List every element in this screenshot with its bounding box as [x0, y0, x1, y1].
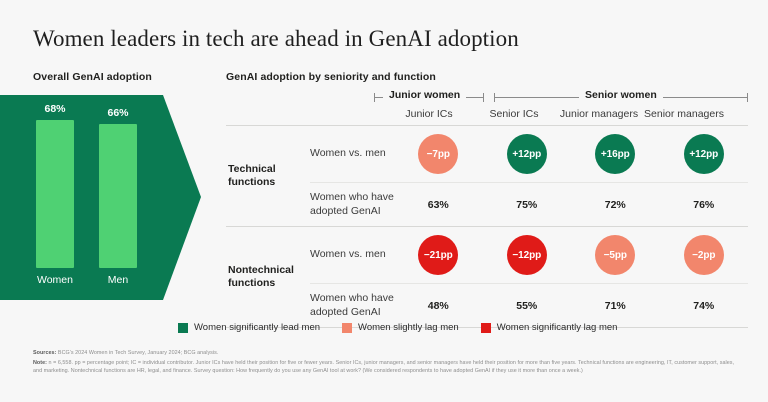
row-label-adopted-technical: Women who have adopted GenAI	[310, 191, 394, 218]
group-label-technical-line1: Technical	[228, 163, 276, 175]
cell-technical-adoption-junior-ics: 63%	[394, 199, 483, 211]
cell-technical-diff-junior-managers: +16pp	[571, 134, 660, 174]
adoption-value: 55%	[516, 300, 537, 312]
bar-women-label: Women	[24, 274, 86, 286]
legend-label-slightly-lag: Women slightly lag men	[358, 322, 459, 333]
legend: Women significantly lead men Women sligh…	[178, 322, 617, 333]
column-header-senior-ics: Senior ICs	[489, 108, 538, 120]
adoption-value: 75%	[516, 199, 537, 211]
column-header-junior-managers: Junior managers	[560, 108, 638, 120]
bar-women: 68% Women	[36, 120, 74, 268]
cell-technical-diff-senior-managers: +12pp	[660, 134, 749, 174]
footnote-sources-label: Sources:	[33, 350, 56, 356]
adoption-table: Junior women Senior women Junior ICs Sen…	[226, 88, 748, 328]
bracket-label-senior-women: Senior women	[579, 89, 663, 101]
bracket-senior-tick-right	[747, 93, 748, 102]
row-cells-nontechnical-diff: −21pp −12pp −5pp −2pp	[394, 235, 748, 275]
cell-nontechnical-diff-junior-managers: −5pp	[571, 235, 660, 275]
cell-nontechnical-diff-senior-ics: −12pp	[483, 235, 572, 275]
group-label-nontechnical-text: Nontechnical functions	[228, 264, 294, 290]
footnotes: Sources: BCG’s 2024 Women in Tech Survey…	[33, 349, 743, 377]
table-group-technical: Technical functions Women vs. men −7pp +…	[226, 126, 748, 226]
table-heading: GenAI adoption by seniority and function	[226, 71, 436, 83]
row-label-adopted-technical-line2: adopted GenAI	[310, 205, 381, 217]
row-label-adopted-nontechnical-line2: adopted GenAI	[310, 306, 381, 318]
cell-nontechnical-diff-senior-managers: −2pp	[660, 235, 749, 275]
column-header-senior-managers: Senior managers	[644, 108, 724, 120]
bracket-junior-tick-right	[483, 93, 484, 102]
cell-technical-adoption-junior-managers: 72%	[571, 199, 660, 211]
table-row-technical-adoption: Women who have adopted GenAI 63% 75% 72%	[310, 183, 748, 226]
row-cells-technical-adoption: 63% 75% 72% 76%	[394, 199, 748, 211]
legend-item-slightly-lag: Women slightly lag men	[342, 322, 459, 333]
cell-technical-diff-junior-ics: −7pp	[394, 134, 483, 174]
row-cells-nontechnical-adoption: 48% 55% 71% 74%	[394, 300, 748, 312]
group-label-nontechnical-line2: functions	[228, 277, 275, 289]
table-group-nontechnical: Nontechnical functions Women vs. men −21…	[226, 227, 748, 327]
row-label-women-vs-men-nontechnical: Women vs. men	[310, 248, 394, 262]
group-label-nontechnical-line1: Nontechnical	[228, 264, 294, 276]
row-label-adopted-nontechnical: Women who have adopted GenAI	[310, 292, 394, 319]
cell-nontechnical-adoption-senior-managers: 74%	[660, 300, 749, 312]
legend-swatch-icon	[178, 323, 188, 333]
footnote-sources: Sources: BCG’s 2024 Women in Tech Survey…	[33, 349, 743, 358]
cell-nontechnical-adoption-junior-ics: 48%	[394, 300, 483, 312]
table-row-technical-diff: Women vs. men −7pp +12pp +16pp +12pp	[310, 126, 748, 182]
table-column-headers: Junior ICs Senior ICs Junior managers Se…	[226, 108, 748, 125]
row-cells-technical-diff: −7pp +12pp +16pp +12pp	[394, 134, 748, 174]
group-nontechnical-rows: Women vs. men −21pp −12pp −5pp −2pp	[310, 227, 748, 327]
bar-men: 66% Men	[99, 124, 137, 268]
table-row-nontechnical-adoption: Women who have adopted GenAI 48% 55% 71%	[310, 284, 748, 327]
footnote-note-text: n = 6,558. pp = percentage point; IC = i…	[33, 360, 734, 375]
left-panel-heading: Overall GenAI adoption	[33, 71, 152, 83]
adoption-value: 74%	[693, 300, 714, 312]
adoption-value: 76%	[693, 199, 714, 211]
cell-nontechnical-diff-junior-ics: −21pp	[394, 235, 483, 275]
adoption-value: 72%	[605, 199, 626, 211]
row-label-women-vs-men-technical: Women vs. men	[310, 147, 394, 161]
bar-women-value: 68%	[36, 103, 74, 115]
group-label-technical-text: Technical functions	[228, 163, 276, 189]
table-row-nontechnical-diff: Women vs. men −21pp −12pp −5pp −2pp	[310, 227, 748, 283]
status-badge: −5pp	[595, 235, 635, 275]
status-badge: +12pp	[684, 134, 724, 174]
adoption-value: 48%	[428, 300, 449, 312]
status-badge: +12pp	[507, 134, 547, 174]
row-label-adopted-technical-line1: Women who have	[310, 191, 394, 203]
adoption-value: 63%	[428, 199, 449, 211]
cell-nontechnical-adoption-junior-managers: 71%	[571, 300, 660, 312]
row-label-adopted-nontechnical-line1: Women who have	[310, 292, 394, 304]
status-badge: +16pp	[595, 134, 635, 174]
footnote-sources-text: BCG’s 2024 Women in Tech Survey, January…	[56, 350, 218, 356]
infographic-root: Women leaders in tech are ahead in GenAI…	[0, 0, 768, 402]
group-label-nontechnical: Nontechnical functions	[226, 227, 310, 327]
legend-label-significantly-lag: Women significantly lag men	[497, 322, 618, 333]
legend-swatch-icon	[342, 323, 352, 333]
table-group-brackets: Junior women Senior women	[226, 88, 748, 108]
overall-adoption-bar-chart: 68% Women 66% Men	[0, 95, 201, 300]
cell-nontechnical-adoption-senior-ics: 55%	[483, 300, 572, 312]
bar-men-value: 66%	[99, 107, 137, 119]
legend-swatch-icon	[481, 323, 491, 333]
footnote-note-label: Note:	[33, 360, 47, 366]
group-label-technical: Technical functions	[226, 126, 310, 226]
cell-technical-adoption-senior-ics: 75%	[483, 199, 572, 211]
group-label-technical-line2: functions	[228, 176, 275, 188]
cell-technical-diff-senior-ics: +12pp	[483, 134, 572, 174]
status-badge: −2pp	[684, 235, 724, 275]
status-badge: −7pp	[418, 134, 458, 174]
status-badge: −12pp	[507, 235, 547, 275]
column-header-junior-ics: Junior ICs	[405, 108, 452, 120]
legend-item-significantly-lag: Women significantly lag men	[481, 322, 618, 333]
page-title: Women leaders in tech are ahead in GenAI…	[33, 26, 519, 52]
bracket-label-junior-women: Junior women	[383, 89, 466, 101]
legend-label-lead: Women significantly lead men	[194, 322, 320, 333]
adoption-value: 71%	[605, 300, 626, 312]
footnote-note: Note: n = 6,558. pp = percentage point; …	[33, 359, 743, 376]
bar-men-rect	[99, 124, 137, 268]
bar-men-label: Men	[87, 274, 149, 286]
legend-item-lead: Women significantly lead men	[178, 322, 320, 333]
bar-women-rect	[36, 120, 74, 268]
group-technical-rows: Women vs. men −7pp +12pp +16pp +12pp	[310, 126, 748, 226]
status-badge: −21pp	[418, 235, 458, 275]
cell-technical-adoption-senior-managers: 76%	[660, 199, 749, 211]
